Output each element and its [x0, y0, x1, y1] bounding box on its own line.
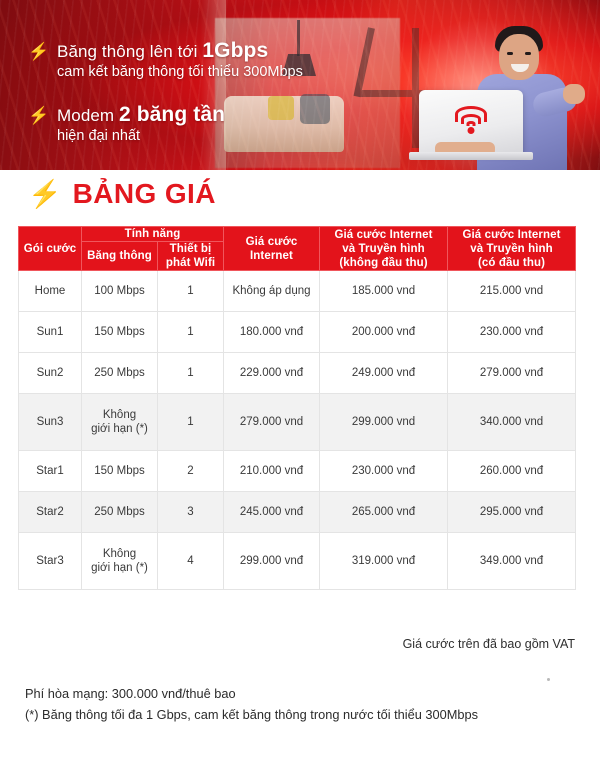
- cell-combo-no-stb: 319.000 vnđ: [320, 533, 448, 590]
- cell-bandwidth-line1: 100 Mbps: [84, 284, 155, 298]
- cell-combo-stb: 215.000 vnd: [448, 271, 576, 312]
- cell-internet-price: 180.000 vnđ: [224, 312, 320, 353]
- footnotes: Phí hòa mạng: 300.000 vnđ/thuê bao (*) B…: [25, 683, 478, 725]
- col-header-combo-stb-line2: và Truyền hình: [450, 242, 573, 256]
- cell-internet-price-line1: Không áp dụng: [226, 284, 317, 298]
- cell-wifi-devices: 1: [158, 271, 224, 312]
- cell-combo-stb-line1: 260.000 vnđ: [450, 464, 573, 478]
- table-row: Sun1150 Mbps1180.000 vnđ200.000 vnđ230.0…: [19, 312, 576, 353]
- lightning-bolt-icon: ⚡: [28, 181, 62, 208]
- cell-bandwidth: 100 Mbps: [82, 271, 158, 312]
- promo-banner: ⚡ Băng thông lên tới 1Gbps cam kết băng …: [0, 0, 600, 170]
- cell-package-line1: Sun3: [21, 415, 79, 429]
- col-header-combo-no-stb: Giá cước Internet và Truyền hình (không …: [320, 227, 448, 271]
- cell-bandwidth: 150 Mbps: [82, 451, 158, 492]
- cell-combo-stb: 295.000 vnđ: [448, 492, 576, 533]
- col-header-combo-no-stb-line3: (không đầu thu): [322, 256, 445, 270]
- cell-bandwidth: 150 Mbps: [82, 312, 158, 353]
- cell-internet-price-line1: 299.000 vnđ: [226, 554, 317, 568]
- cell-combo-stb-line1: 349.000 vnđ: [450, 554, 573, 568]
- col-header-features-group: Tính năng: [82, 227, 224, 242]
- cell-bandwidth-line1: 150 Mbps: [84, 325, 155, 339]
- cell-wifi-devices-line1: 1: [160, 284, 221, 298]
- cell-package-line1: Star2: [21, 505, 79, 519]
- banner-bullet-2-strong: 2 băng tần: [119, 103, 225, 126]
- col-header-package: Gói cước: [19, 227, 82, 271]
- price-table-container: Gói cước Tính năng Giá cước Internet Giá…: [18, 226, 575, 590]
- banner-bullet-1-strong: 1Gbps: [202, 39, 268, 62]
- cell-internet-price: Không áp dụng: [224, 271, 320, 312]
- cell-combo-stb-line1: 340.000 vnd: [450, 415, 573, 429]
- cell-internet-price-line1: 210.000 vnđ: [226, 464, 317, 478]
- cell-combo-no-stb: 299.000 vnd: [320, 394, 448, 451]
- cell-internet-price: 229.000 vnđ: [224, 353, 320, 394]
- install-fee-note: Phí hòa mạng: 300.000 vnđ/thuê bao: [25, 683, 478, 704]
- cell-wifi-devices-line1: 3: [160, 505, 221, 519]
- cell-combo-stb-line1: 279.000 vnđ: [450, 366, 573, 380]
- cell-package: Sun3: [19, 394, 82, 451]
- cell-wifi-devices: 3: [158, 492, 224, 533]
- page-speck: [547, 678, 550, 681]
- col-header-combo-stb: Giá cước Internet và Truyền hình (có đầu…: [448, 227, 576, 271]
- cell-bandwidth-line1: 250 Mbps: [84, 366, 155, 380]
- cell-internet-price-line1: 245.000 vnđ: [226, 505, 317, 519]
- table-row: Sun3Khônggiới hạn (*)1279.000 vnd299.000…: [19, 394, 576, 451]
- cell-internet-price-line1: 229.000 vnđ: [226, 366, 317, 380]
- cell-wifi-devices-line1: 1: [160, 325, 221, 339]
- cell-wifi-devices: 1: [158, 394, 224, 451]
- cell-combo-stb: 230.000 vnđ: [448, 312, 576, 353]
- col-header-internet-price: Giá cước Internet: [224, 227, 320, 271]
- cell-internet-price: 245.000 vnđ: [224, 492, 320, 533]
- cell-package: Sun2: [19, 353, 82, 394]
- cell-combo-stb-line1: 295.000 vnđ: [450, 505, 573, 519]
- table-row: Home100 Mbps1Không áp dụng185.000 vnd215…: [19, 271, 576, 312]
- col-header-wifi-device-line2: phát Wifi: [160, 256, 221, 270]
- cell-package-line1: Sun2: [21, 366, 79, 380]
- table-body: Home100 Mbps1Không áp dụng185.000 vnd215…: [19, 271, 576, 590]
- cell-combo-no-stb-line1: 185.000 vnd: [322, 284, 445, 298]
- cell-combo-no-stb: 185.000 vnd: [320, 271, 448, 312]
- price-table-page: ⚡ Băng thông lên tới 1Gbps cam kết băng …: [0, 0, 600, 761]
- cell-package-line1: Sun1: [21, 325, 79, 339]
- banner-bullet-2-prefix: Modem: [57, 106, 119, 125]
- banner-text-block: ⚡ Băng thông lên tới 1Gbps cam kết băng …: [28, 40, 368, 160]
- cell-bandwidth: 250 Mbps: [82, 492, 158, 533]
- lightning-bolt-icon: ⚡: [28, 107, 40, 125]
- cell-combo-stb-line1: 230.000 vnđ: [450, 325, 573, 339]
- table-header: Gói cước Tính năng Giá cước Internet Giá…: [19, 227, 576, 271]
- table-row: Star1150 Mbps2210.000 vnđ230.000 vnđ260.…: [19, 451, 576, 492]
- cell-bandwidth-line1: 150 Mbps: [84, 464, 155, 478]
- cell-wifi-devices: 1: [158, 312, 224, 353]
- cell-combo-no-stb: 249.000 vnđ: [320, 353, 448, 394]
- cell-combo-no-stb-line1: 249.000 vnđ: [322, 366, 445, 380]
- cell-combo-no-stb: 265.000 vnđ: [320, 492, 448, 533]
- cell-combo-stb: 340.000 vnd: [448, 394, 576, 451]
- cell-internet-price: 210.000 vnđ: [224, 451, 320, 492]
- banner-bullet-1-prefix: Băng thông lên tới: [57, 42, 202, 61]
- col-header-bandwidth: Băng thông: [82, 242, 158, 271]
- cell-bandwidth: Khônggiới hạn (*): [82, 533, 158, 590]
- cell-combo-stb-line1: 215.000 vnd: [450, 284, 573, 298]
- cell-bandwidth-line2: giới hạn (*): [84, 561, 155, 575]
- banner-bullet-2-line2: hiện đại nhất: [57, 126, 368, 146]
- cell-combo-stb: 279.000 vnđ: [448, 353, 576, 394]
- col-header-internet-price-line1: Giá cước: [226, 235, 317, 249]
- banner-bullet-1-line2: cam kết băng thông tối thiểu 300Mbps: [57, 62, 368, 82]
- cell-package-line1: Home: [21, 284, 79, 298]
- cell-wifi-devices: 2: [158, 451, 224, 492]
- cell-wifi-devices-line1: 4: [160, 554, 221, 568]
- page-title-text: BẢNG GIÁ: [73, 178, 216, 210]
- vat-note: Giá cước trên đã bao gồm VAT: [403, 637, 575, 651]
- col-header-combo-stb-line1: Giá cước Internet: [450, 228, 573, 242]
- cell-bandwidth: 250 Mbps: [82, 353, 158, 394]
- price-table: Gói cước Tính năng Giá cước Internet Giá…: [18, 226, 576, 590]
- cell-package: Star1: [19, 451, 82, 492]
- cell-package: Home: [19, 271, 82, 312]
- cell-combo-no-stb: 200.000 vnđ: [320, 312, 448, 353]
- lightning-bolt-icon: ⚡: [28, 43, 40, 61]
- col-header-internet-price-line2: Internet: [226, 249, 317, 263]
- cell-combo-stb: 260.000 vnđ: [448, 451, 576, 492]
- cell-package: Sun1: [19, 312, 82, 353]
- wifi-icon: [453, 106, 489, 134]
- cell-package-line1: Star1: [21, 464, 79, 478]
- cell-package: Star3: [19, 533, 82, 590]
- col-header-combo-stb-line3: (có đầu thu): [450, 256, 573, 270]
- banner-bullet-2-line1: Modem 2 băng tần: [57, 104, 368, 126]
- cell-package-line1: Star3: [21, 554, 79, 568]
- cell-wifi-devices: 4: [158, 533, 224, 590]
- cell-package: Star2: [19, 492, 82, 533]
- table-header-row-1: Gói cước Tính năng Giá cước Internet Giá…: [19, 227, 576, 242]
- cell-combo-stb: 349.000 vnđ: [448, 533, 576, 590]
- cell-combo-no-stb: 230.000 vnđ: [320, 451, 448, 492]
- cell-wifi-devices-line1: 1: [160, 366, 221, 380]
- cell-internet-price-line1: 279.000 vnd: [226, 415, 317, 429]
- banner-bullet-1-line1: Băng thông lên tới 1Gbps: [57, 40, 368, 62]
- page-title: ⚡ BẢNG GIÁ: [28, 178, 216, 210]
- cell-internet-price: 299.000 vnđ: [224, 533, 320, 590]
- cell-bandwidth-line1: 250 Mbps: [84, 505, 155, 519]
- cell-internet-price-line1: 180.000 vnđ: [226, 325, 317, 339]
- banner-bullet-1: ⚡ Băng thông lên tới 1Gbps cam kết băng …: [28, 40, 368, 82]
- table-row: Sun2250 Mbps1229.000 vnđ249.000 vnđ279.0…: [19, 353, 576, 394]
- cell-bandwidth-line1: Không: [84, 408, 155, 422]
- cell-bandwidth-line1: Không: [84, 547, 155, 561]
- cell-bandwidth-line2: giới hạn (*): [84, 422, 155, 436]
- table-row: Star2250 Mbps3245.000 vnđ265.000 vnđ295.…: [19, 492, 576, 533]
- table-row: Star3Khônggiới hạn (*)4299.000 vnđ319.00…: [19, 533, 576, 590]
- avatar: [455, 18, 575, 170]
- col-header-wifi-device-line1: Thiết bị: [160, 242, 221, 256]
- cell-wifi-devices-line1: 2: [160, 464, 221, 478]
- cell-wifi-devices-line1: 1: [160, 415, 221, 429]
- cell-combo-no-stb-line1: 299.000 vnd: [322, 415, 445, 429]
- col-header-combo-no-stb-line2: và Truyền hình: [322, 242, 445, 256]
- col-header-combo-no-stb-line1: Giá cước Internet: [322, 228, 445, 242]
- cell-combo-no-stb-line1: 200.000 vnđ: [322, 325, 445, 339]
- cell-wifi-devices: 1: [158, 353, 224, 394]
- cell-combo-no-stb-line1: 230.000 vnđ: [322, 464, 445, 478]
- banner-bullet-2: ⚡ Modem 2 băng tần hiện đại nhất: [28, 104, 368, 146]
- cell-combo-no-stb-line1: 265.000 vnđ: [322, 505, 445, 519]
- cell-bandwidth: Khônggiới hạn (*): [82, 394, 158, 451]
- cell-combo-no-stb-line1: 319.000 vnđ: [322, 554, 445, 568]
- col-header-wifi-device: Thiết bị phát Wifi: [158, 242, 224, 271]
- bandwidth-footnote: (*) Băng thông tối đa 1 Gbps, cam kết bă…: [25, 704, 478, 725]
- cell-internet-price: 279.000 vnd: [224, 394, 320, 451]
